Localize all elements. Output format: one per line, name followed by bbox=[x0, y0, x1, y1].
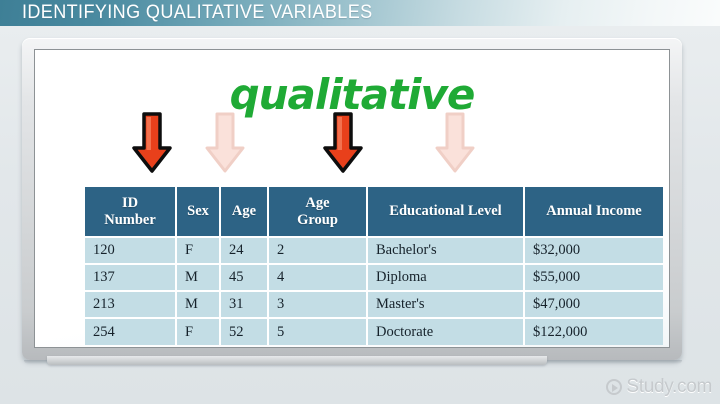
cell-id-number: 137 bbox=[85, 265, 177, 292]
page-title: IDENTIFYING QUALITATIVE VARIABLES bbox=[22, 2, 373, 24]
cell-age-group: 5 bbox=[269, 319, 368, 345]
cell-id-number: 213 bbox=[85, 292, 177, 319]
column-header-age: Age bbox=[221, 187, 269, 238]
arrow-id-number-icon bbox=[130, 112, 174, 174]
cell-educational-level: Doctorate bbox=[368, 319, 525, 345]
arrow-sex-icon bbox=[203, 112, 247, 174]
table-row: 137 M 45 4 Diploma $55,000 bbox=[85, 265, 663, 292]
header-line-1: Age bbox=[305, 195, 329, 211]
header-line-2: Number bbox=[104, 212, 156, 228]
table-row: 120 F 24 2 Bachelor's $32,000 bbox=[85, 238, 663, 265]
cell-age: 24 bbox=[221, 238, 269, 265]
cell-sex: M bbox=[177, 292, 221, 319]
arrow-educational-level-icon bbox=[433, 112, 477, 174]
title-bar: IDENTIFYING QUALITATIVE VARIABLES bbox=[0, 0, 720, 26]
whiteboard-frame: qualitative bbox=[22, 38, 682, 360]
cell-educational-level: Master's bbox=[368, 292, 525, 319]
cell-age: 52 bbox=[221, 319, 269, 345]
table-row: 213 M 31 3 Master's $47,000 bbox=[85, 292, 663, 319]
arrow-age-group-icon bbox=[321, 112, 365, 174]
cell-sex: M bbox=[177, 265, 221, 292]
column-header-age-group: Age Group bbox=[269, 187, 368, 238]
cell-id-number: 120 bbox=[85, 238, 177, 265]
cell-sex: F bbox=[177, 319, 221, 345]
copyright-icon bbox=[606, 379, 622, 395]
cell-age-group: 3 bbox=[269, 292, 368, 319]
watermark: Study.com bbox=[606, 376, 712, 398]
cell-id-number: 254 bbox=[85, 319, 177, 345]
column-header-id-number: ID Number bbox=[85, 187, 177, 238]
header-line-1: ID bbox=[122, 195, 138, 211]
header-line-2: Group bbox=[297, 212, 338, 228]
cell-annual-income: $55,000 bbox=[525, 265, 663, 292]
cell-age-group: 4 bbox=[269, 265, 368, 292]
cell-age: 31 bbox=[221, 292, 269, 319]
cell-annual-income: $32,000 bbox=[525, 238, 663, 265]
cell-age: 45 bbox=[221, 265, 269, 292]
cell-educational-level: Diploma bbox=[368, 265, 525, 292]
cell-age-group: 2 bbox=[269, 238, 368, 265]
whiteboard-pen-tray bbox=[47, 356, 547, 365]
cell-annual-income: $47,000 bbox=[525, 292, 663, 319]
cell-sex: F bbox=[177, 238, 221, 265]
cell-annual-income: $122,000 bbox=[525, 319, 663, 345]
watermark-text: Study.com bbox=[626, 376, 712, 398]
table-header-row: ID Number Sex Age Age Group Educational … bbox=[85, 187, 663, 238]
whiteboard-surface: qualitative bbox=[34, 49, 670, 348]
column-header-sex: Sex bbox=[177, 187, 221, 238]
data-table: ID Number Sex Age Age Group Educational … bbox=[85, 187, 663, 345]
table-row: 254 F 52 5 Doctorate $122,000 bbox=[85, 319, 663, 345]
cell-educational-level: Bachelor's bbox=[368, 238, 525, 265]
column-header-annual-income: Annual Income bbox=[525, 187, 663, 238]
column-header-educational-level: Educational Level bbox=[368, 187, 525, 238]
